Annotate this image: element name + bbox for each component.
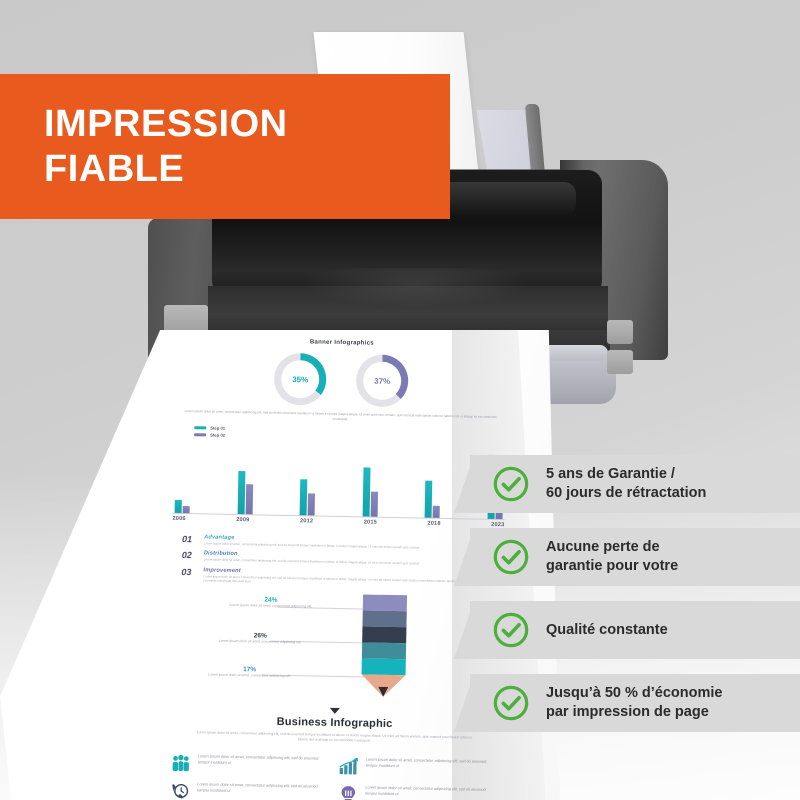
feature-row-4-line-2: par impression de page [546, 704, 709, 720]
donut-chart-1: 35% [274, 353, 327, 406]
feature-row-3-text: Qualité constante [546, 621, 668, 640]
donut-chart-1-label: 35% [274, 353, 327, 406]
icon-feature-2: Lorem ipsum dolor sit amet, consectetur … [338, 757, 498, 778]
check-circle-icon [492, 538, 530, 576]
feature-row-2[interactable]: Aucune perte de garantie pour votre [470, 528, 800, 586]
x-label-2009: 2009 [236, 517, 249, 523]
hero-banner-line-2: FIABLE [44, 147, 450, 192]
feature-row-1[interactable]: 5 ans de Garantie / 60 jours de rétracta… [470, 455, 800, 513]
clock-phone-icon [169, 782, 191, 800]
bar-step-02-2012 [308, 494, 315, 516]
bar-group-2015 [362, 468, 378, 517]
donut-chart-2-label: 37% [356, 354, 409, 407]
business-infographic-title: Business Infographic [165, 714, 505, 733]
bar-group-2006 [175, 499, 190, 513]
x-label-2012: 2012 [300, 518, 313, 524]
icon-feature-2-text: Lorem ipsum dolor sit amet, consectetur … [366, 758, 498, 772]
bar-group-2018 [425, 481, 441, 518]
bar-step-02-2009 [245, 484, 253, 514]
x-label-2006: 2006 [172, 516, 185, 522]
icon-feature-4: Lorem ipsum dolor sit amet, consectetur … [337, 785, 497, 800]
x-label-2018: 2018 [427, 521, 440, 527]
x-label-2015: 2015 [364, 519, 377, 525]
pencil-segment-2 [362, 610, 406, 627]
feature-row-2-line-2: garantie pour votre [546, 558, 678, 574]
bar-step-02-2015 [370, 491, 377, 516]
funnel-label-2-text: Lorem ipsum dolor sit amet, consectetur … [210, 638, 310, 645]
bar-step-02-2018 [433, 506, 440, 518]
list-item: 03 Improvement Lorem ipsum dolor sit ame… [181, 567, 493, 589]
pencil-segment-1 [363, 594, 407, 611]
feature-row-4-text: Jusqu’à 50 % d’économie par impression d… [546, 684, 722, 722]
feature-row-1-text: 5 ans de Garantie / 60 jours de rétracta… [546, 465, 706, 503]
feature-row-2-text: Aucune perte de garantie pour votre [546, 538, 678, 576]
icon-feature-1: Lorem ipsum dolor sit amet, consectetur … [170, 754, 330, 775]
pencil-segment-3 [362, 626, 406, 643]
pencil-tip [361, 674, 405, 697]
bar-step-01-2006 [175, 499, 182, 512]
icon-feature-grid: Lorem ipsum dolor sit amet, consectetur … [169, 754, 498, 800]
icon-feature-4-text: Lorem ipsum dolor sit amet, consectetur … [365, 786, 497, 800]
down-arrow-icon [330, 708, 340, 714]
printer-button-right-top[interactable] [607, 320, 633, 344]
bar-group-2009 [237, 471, 253, 514]
icon-feature-1-text: Lorem ipsum dolor sit amet, consectetur … [198, 755, 330, 769]
funnel-label-3: 17% Lorem ipsum dolor sit amet, consecte… [199, 665, 299, 679]
pencil-graphic [361, 594, 407, 697]
feature-row-2-line-1: Aucune perte de [546, 539, 660, 555]
funnel-label-1-text: Lorem ipsum dolor sit amet, consectetur … [221, 603, 321, 610]
icon-feature-3: Lorem ipsum dolor sit amet, consectetur … [169, 782, 329, 800]
printer-button-right-bottom[interactable] [607, 350, 633, 374]
funnel-pencil-chart: 24% Lorem ipsum dolor sit amet, consecte… [165, 591, 507, 706]
hero-banner: IMPRESSION FIABLE [0, 74, 450, 219]
check-circle-icon [492, 684, 530, 722]
hero-banner-line-1: IMPRESSION [44, 102, 450, 147]
numbered-list: 01 Advantage Lorem ipsum dolor sit amet,… [181, 534, 494, 589]
feature-row-1-line-2: 60 jours de rétractation [546, 485, 706, 501]
bar-chart-growth-icon [338, 757, 360, 775]
business-infographic-text: Lorem ipsum dolor sit amet, consectetur … [194, 730, 474, 746]
feature-row-4[interactable]: Jusqu’à 50 % d’économie par impression d… [470, 674, 800, 732]
legend-swatch-step-01 [194, 426, 206, 429]
list-item: 01 Advantage Lorem ipsum dolor sit amet,… [182, 534, 494, 551]
list-item: 02 Distribution Lorem ipsum dolor sit am… [182, 550, 494, 567]
funnel-label-1: 24% Lorem ipsum dolor sit amet, consecte… [221, 596, 321, 610]
legend-label-step-01: Step 01 [210, 425, 225, 430]
printer-shell-sheen [300, 268, 530, 308]
lightbulb-idea-icon [337, 785, 359, 800]
pencil-segment-5 [362, 658, 406, 675]
bar-step-01-2018 [425, 481, 433, 518]
pencil-segment-4 [362, 642, 406, 659]
bar-step-01-2015 [362, 468, 370, 517]
infographic-banner: Banner Infographics 35% 37% Lorem ipsum … [0, 0, 800, 800]
legend-swatch-step-02 [194, 433, 206, 436]
feature-row-1-line-1: 5 ans de Garantie / [546, 466, 675, 482]
icon-feature-3-text: Lorem ipsum dolor sit amet, consectetur … [197, 783, 329, 797]
donut-chart-2: 37% [356, 354, 409, 407]
bar-step-01-2009 [237, 471, 245, 514]
donut-chart-group: 35% 37% [171, 351, 512, 410]
bar-step-01-2012 [300, 480, 308, 516]
bar-step-02-2006 [183, 506, 190, 513]
feature-row-4-line-1: Jusqu’à 50 % d’économie [546, 685, 722, 701]
list-item-number: 02 [182, 550, 198, 560]
legend-label-step-02: Step 02 [210, 432, 225, 437]
funnel-label-3-text: Lorem ipsum dolor sit amet, consectetur … [199, 672, 299, 679]
funnel-label-2: 26% Lorem ipsum dolor sit amet, consecte… [210, 631, 310, 645]
check-circle-icon [492, 465, 530, 503]
feature-list: 5 ans de Garantie / 60 jours de rétracta… [470, 455, 800, 747]
infographic-intro-text: Lorem ipsum dolor sit amet, consectetur … [180, 409, 500, 425]
list-item-number: 01 [182, 534, 198, 544]
list-item-number: 03 [181, 567, 197, 577]
check-circle-icon [492, 611, 530, 649]
bar-group-2012 [300, 480, 316, 516]
people-group-icon [170, 754, 192, 772]
feature-row-3[interactable]: Qualité constante [470, 601, 800, 659]
bar-chart [175, 439, 504, 519]
